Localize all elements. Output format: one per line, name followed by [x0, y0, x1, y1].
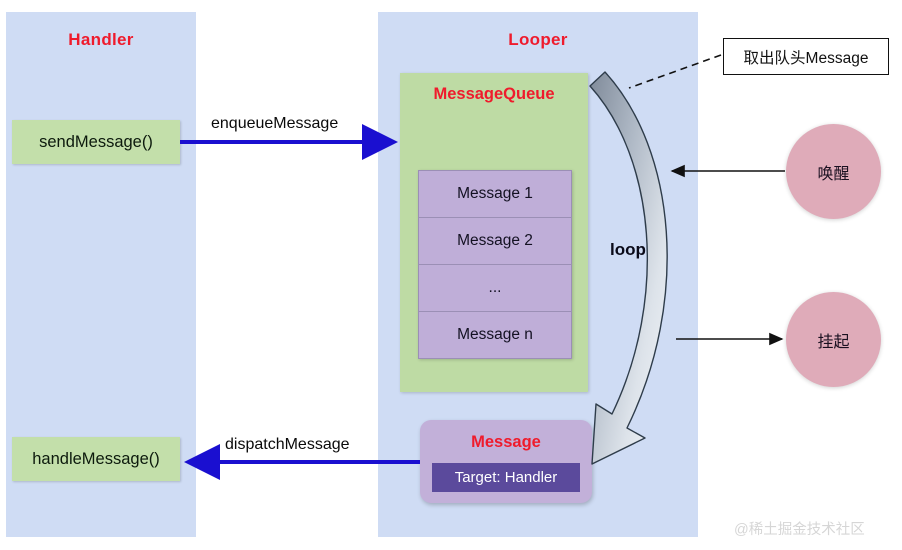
handler-panel-title: Handler	[6, 30, 196, 50]
message-item-label: Message 2	[457, 232, 533, 250]
message-queue-title: MessageQueue	[400, 85, 588, 104]
callout-box: 取出队头Message	[723, 38, 889, 75]
list-item[interactable]: ...	[419, 265, 571, 312]
send-message-label: sendMessage()	[39, 133, 153, 152]
list-item[interactable]: Message n	[419, 312, 571, 358]
message-target-bar: Target: Handler	[432, 463, 580, 492]
handle-message-box[interactable]: handleMessage()	[12, 437, 180, 481]
message-item-label: Message n	[457, 326, 533, 344]
message-card-title: Message	[420, 433, 592, 452]
message-item-label: ...	[489, 279, 502, 297]
enqueue-message-label: enqueueMessage	[211, 115, 338, 133]
callout-text: 取出队头Message	[744, 46, 869, 68]
suspend-state-label: 挂起	[817, 328, 849, 352]
dispatch-message-label: dispatchMessage	[225, 436, 350, 454]
message-target-label: Target: Handler	[455, 469, 558, 486]
list-item[interactable]: Message 2	[419, 218, 571, 265]
wake-state-label: 唤醒	[817, 160, 849, 184]
message-list: Message 1 Message 2 ... Message n	[418, 170, 572, 359]
loop-label: loop()	[610, 240, 657, 260]
wake-state-circle[interactable]: 唤醒	[786, 124, 881, 219]
send-message-box[interactable]: sendMessage()	[12, 120, 180, 164]
watermark: @稀土掘金技术社区	[734, 518, 865, 539]
diagram-canvas: Handler sendMessage() handleMessage() Lo…	[0, 0, 902, 550]
message-queue-box: MessageQueue Message 1 Message 2 ... Mes…	[400, 73, 588, 392]
looper-panel-title: Looper	[378, 30, 698, 50]
message-card[interactable]: Message Target: Handler	[420, 420, 592, 503]
handle-message-label: handleMessage()	[32, 450, 160, 469]
list-item[interactable]: Message 1	[419, 171, 571, 218]
message-item-label: Message 1	[457, 185, 533, 203]
suspend-state-circle[interactable]: 挂起	[786, 292, 881, 387]
